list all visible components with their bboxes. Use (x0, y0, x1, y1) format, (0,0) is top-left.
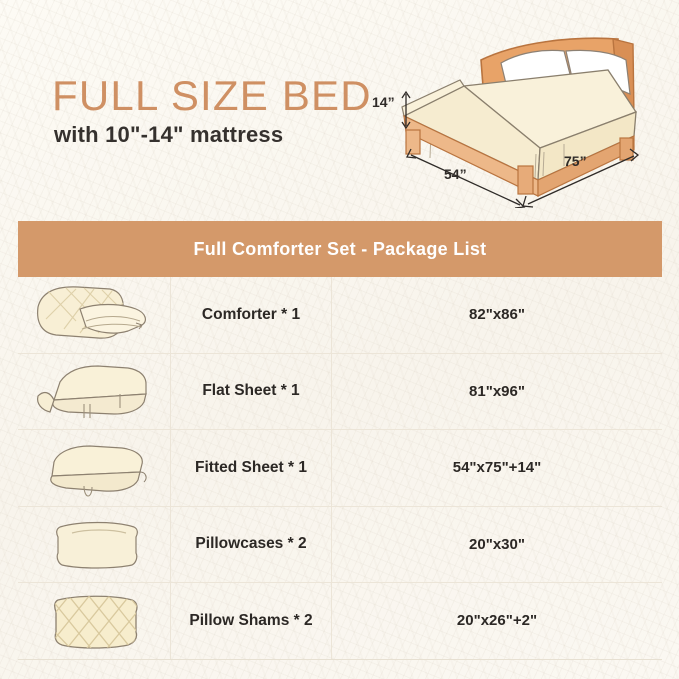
infographic-stage: FULL SIZE BED with 10"-14" mattress (0, 0, 679, 679)
item-size: 81"x96" (332, 354, 662, 430)
flat-sheet-icon (18, 354, 170, 430)
page-subtitle: with 10"-14" mattress (54, 122, 283, 148)
item-size: 82"x86" (332, 277, 662, 353)
item-size: 20"x26"+2" (332, 583, 662, 659)
fitted-sheet-icon (18, 430, 170, 506)
package-list-table: Comforter * 1 82"x86" Flat Sheet * 1 81"… (18, 277, 662, 660)
pillow-sham-icon (18, 583, 170, 659)
pillowcase-icon (18, 507, 170, 583)
bed-width-label: 54” (444, 166, 467, 182)
package-list-banner: Full Comforter Set - Package List (18, 221, 662, 277)
table-row: Pillow Shams * 2 20"x26"+2" (18, 583, 662, 660)
item-name: Flat Sheet * 1 (170, 354, 332, 430)
table-row: Flat Sheet * 1 81"x96" (18, 354, 662, 431)
item-name: Fitted Sheet * 1 (170, 430, 332, 506)
full-size-bed-illustration: 14” 54” 75” (368, 8, 674, 208)
item-size: 54"x75"+14" (332, 430, 662, 506)
bed-height-label: 14” (372, 94, 395, 110)
page-title: FULL SIZE BED (52, 72, 372, 120)
comforter-icon (18, 277, 170, 353)
bed-length-label: 75” (564, 153, 587, 169)
package-list-banner-label: Full Comforter Set - Package List (194, 239, 487, 260)
table-row: Fitted Sheet * 1 54"x75"+14" (18, 430, 662, 507)
item-name: Pillow Shams * 2 (170, 583, 332, 659)
item-name: Comforter * 1 (170, 277, 332, 353)
table-row: Comforter * 1 82"x86" (18, 277, 662, 354)
item-name: Pillowcases * 2 (170, 507, 332, 583)
item-size: 20"x30" (332, 507, 662, 583)
table-row: Pillowcases * 2 20"x30" (18, 507, 662, 584)
